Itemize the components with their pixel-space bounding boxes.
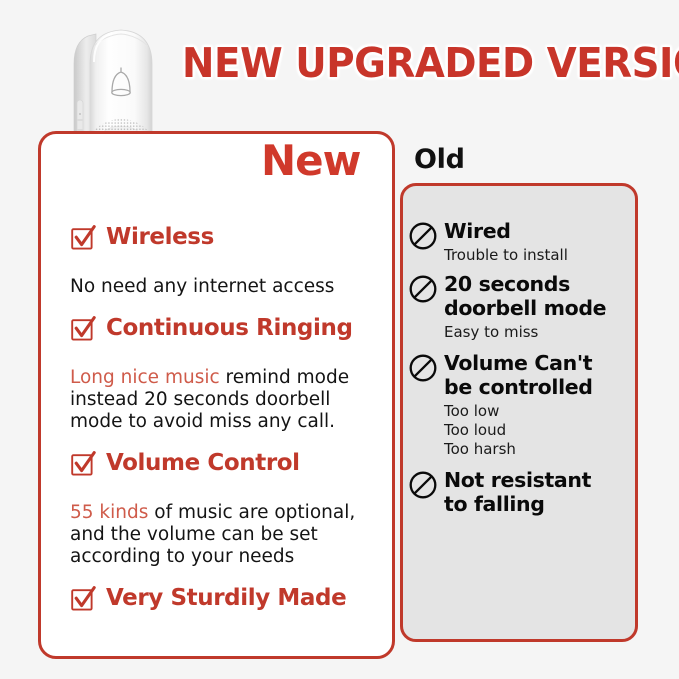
list-item: Not resistant to falling (408, 468, 628, 516)
banner: NEW UPGRADED VERSION (182, 36, 674, 90)
old-item-title: Not resistant to falling (444, 468, 591, 516)
prohibited-icon (408, 274, 438, 304)
new-item-subtitle-highlight: 55 kinds (70, 502, 148, 523)
prohibited-icon (408, 470, 438, 500)
checkbox-checked-icon (70, 315, 97, 342)
new-item-subtitle-rest: No need any internet access (70, 276, 334, 297)
prohibited-icon (408, 221, 438, 251)
old-item-title: 20 seconds doorbell mode (444, 272, 606, 320)
list-item: Wireless No need any internet access (70, 224, 383, 298)
new-feature-list: Wireless No need any internet access Con… (38, 131, 395, 659)
banner-headline: NEW UPGRADED VERSION (182, 41, 679, 85)
new-item-subtitle: No need any internet access (70, 254, 383, 298)
old-feature-list: Wired Trouble to install 20 seconds door… (400, 183, 638, 642)
old-item-subtitle: Easy to miss (444, 323, 628, 342)
list-item: Wired Trouble to install (408, 219, 628, 265)
list-item: Volume Can't be controlled Too low Too l… (408, 351, 628, 459)
checkbox-checked-icon (70, 450, 97, 477)
checkbox-checked-icon (70, 585, 97, 612)
prohibited-icon (408, 353, 438, 383)
new-item-title: Very Sturdily Made (106, 585, 346, 612)
old-item-subtitle: Trouble to install (444, 246, 628, 265)
new-item-subtitle-highlight: Long nice music (70, 367, 220, 388)
old-item-subtitle: Too low Too loud Too harsh (444, 402, 628, 459)
old-column-label: Old (414, 144, 465, 175)
infographic-canvas: NEW UPGRADED VERSION Old Wired Trouble t… (0, 0, 679, 679)
new-item-title: Wireless (106, 224, 214, 251)
new-item-title: Volume Control (106, 450, 300, 477)
new-item-title: Continuous Ringing (106, 315, 353, 342)
old-item-title: Wired (444, 219, 511, 243)
old-item-title: Volume Can't be controlled (444, 351, 593, 399)
list-item: Very Sturdily Made (70, 585, 383, 612)
new-item-subtitle: Long nice music remind mode instead 20 s… (70, 345, 383, 433)
new-item-subtitle: 55 kinds of music are optional, and the … (70, 480, 383, 568)
list-item: Continuous Ringing Long nice music remin… (70, 315, 383, 433)
list-item: 20 seconds doorbell mode Easy to miss (408, 272, 628, 342)
checkbox-checked-icon (70, 224, 97, 251)
list-item: Volume Control 55 kinds of music are opt… (70, 450, 383, 568)
